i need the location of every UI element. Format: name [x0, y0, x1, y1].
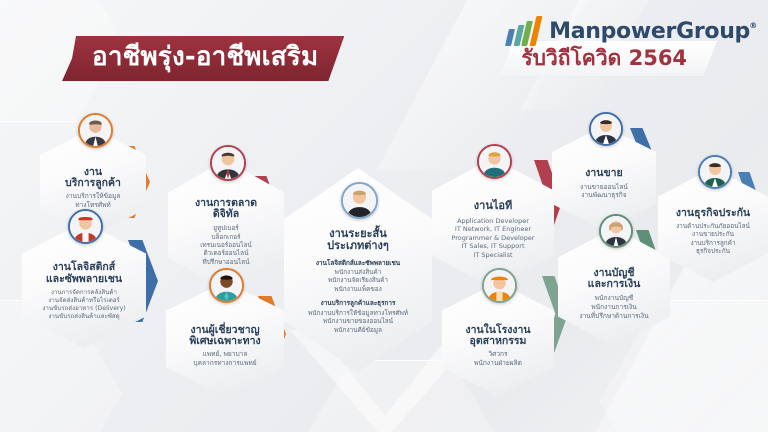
card-lines-short-term: งานโลจิสติกส์และซัพพลายเชนพนักงานส่งสินค…: [308, 259, 408, 335]
card-lines-it: Application DeveloperIT Network, IT Engi…: [451, 217, 534, 260]
card-title-customer-service: งานบริการลูกค้า: [65, 167, 121, 191]
card-lines-customer-service: งานบริการให้ข้อมูลทางโทรศัพท์: [66, 192, 121, 209]
card-title-short-term: งานระยะสั้นประเภทต่างๆ: [327, 228, 389, 253]
logo-wordmark: ManpowerGroup®: [549, 19, 750, 44]
card-lines-insurance: งานด้านประกันภัยออนไลน์งานขายประกันงานบร…: [676, 222, 750, 256]
card-title-medical: งานผู้เชี่ยวชาญพิเศษเฉพาะทาง: [189, 325, 260, 349]
card-title-factory: งานในโรงงานอุตสาหกรรม: [465, 325, 530, 349]
logo-mark-icon: [507, 16, 541, 46]
logo-text-label: ManpowerGroup: [549, 19, 750, 44]
manpowergroup-logo: ManpowerGroup®: [507, 16, 750, 46]
avatar-sales: [589, 112, 623, 146]
card-title-it: งานไอที: [474, 200, 512, 212]
card-lines-digital-marketing: ยูทูปเบอร์บล็อกเกอร์เทรนเนอร์ออนไลน์ติวเ…: [200, 224, 252, 266]
card-title-insurance: งานธุรกิจประกัน: [676, 208, 750, 220]
card-lines-factory: วิศวกรพนักงานฝ่ายผลิต: [474, 350, 522, 367]
page-subtitle: รับวิถีโควิด 2564: [499, 41, 717, 76]
avatar-short-term-jobs: [341, 182, 378, 219]
trademark-symbol: ®: [749, 21, 757, 30]
card-title-accounting: งานบัญชีและการเงิน: [588, 268, 641, 292]
avatar-accounting-finance: [599, 214, 633, 248]
card-title-sales: งานขาย: [585, 168, 622, 180]
avatar-logistics: [68, 209, 103, 244]
page-title: อาชีพรุ่ง-อาชีพเสริม: [62, 36, 344, 81]
infographic-canvas: อาชีพรุ่ง-อาชีพเสริม รับวิถีโควิด 2564 M…: [0, 0, 768, 432]
avatar-digital-marketing: [210, 145, 246, 181]
card-lines-medical: แพทย์, พยาบาลบุคลากรทางการแพทย์: [193, 350, 256, 367]
card-lines-logistics: งานการจัดการคลังสินค้างานจัดส่งสินค้าหรื…: [42, 289, 125, 322]
avatar-medical-specialist: [209, 268, 244, 303]
avatar-customer-service: [78, 113, 113, 148]
card-lines-accounting: พนักงานบัญชีพนักงานการเงินงานที่ปรึกษาด้…: [579, 294, 648, 320]
avatar-it-jobs: [477, 144, 512, 179]
card-lines-sales: งานขายออนไลน์งานพัฒนาธุรกิจ: [580, 183, 628, 200]
card-title-logistics: งานโลจิสติกส์และซัพพลายเชน: [46, 262, 122, 286]
card-title-digital-marketing: งานการตลาดดิจิทัล: [195, 198, 257, 222]
avatar-insurance-business: [698, 155, 732, 189]
avatar-factory-industry: [482, 268, 517, 303]
